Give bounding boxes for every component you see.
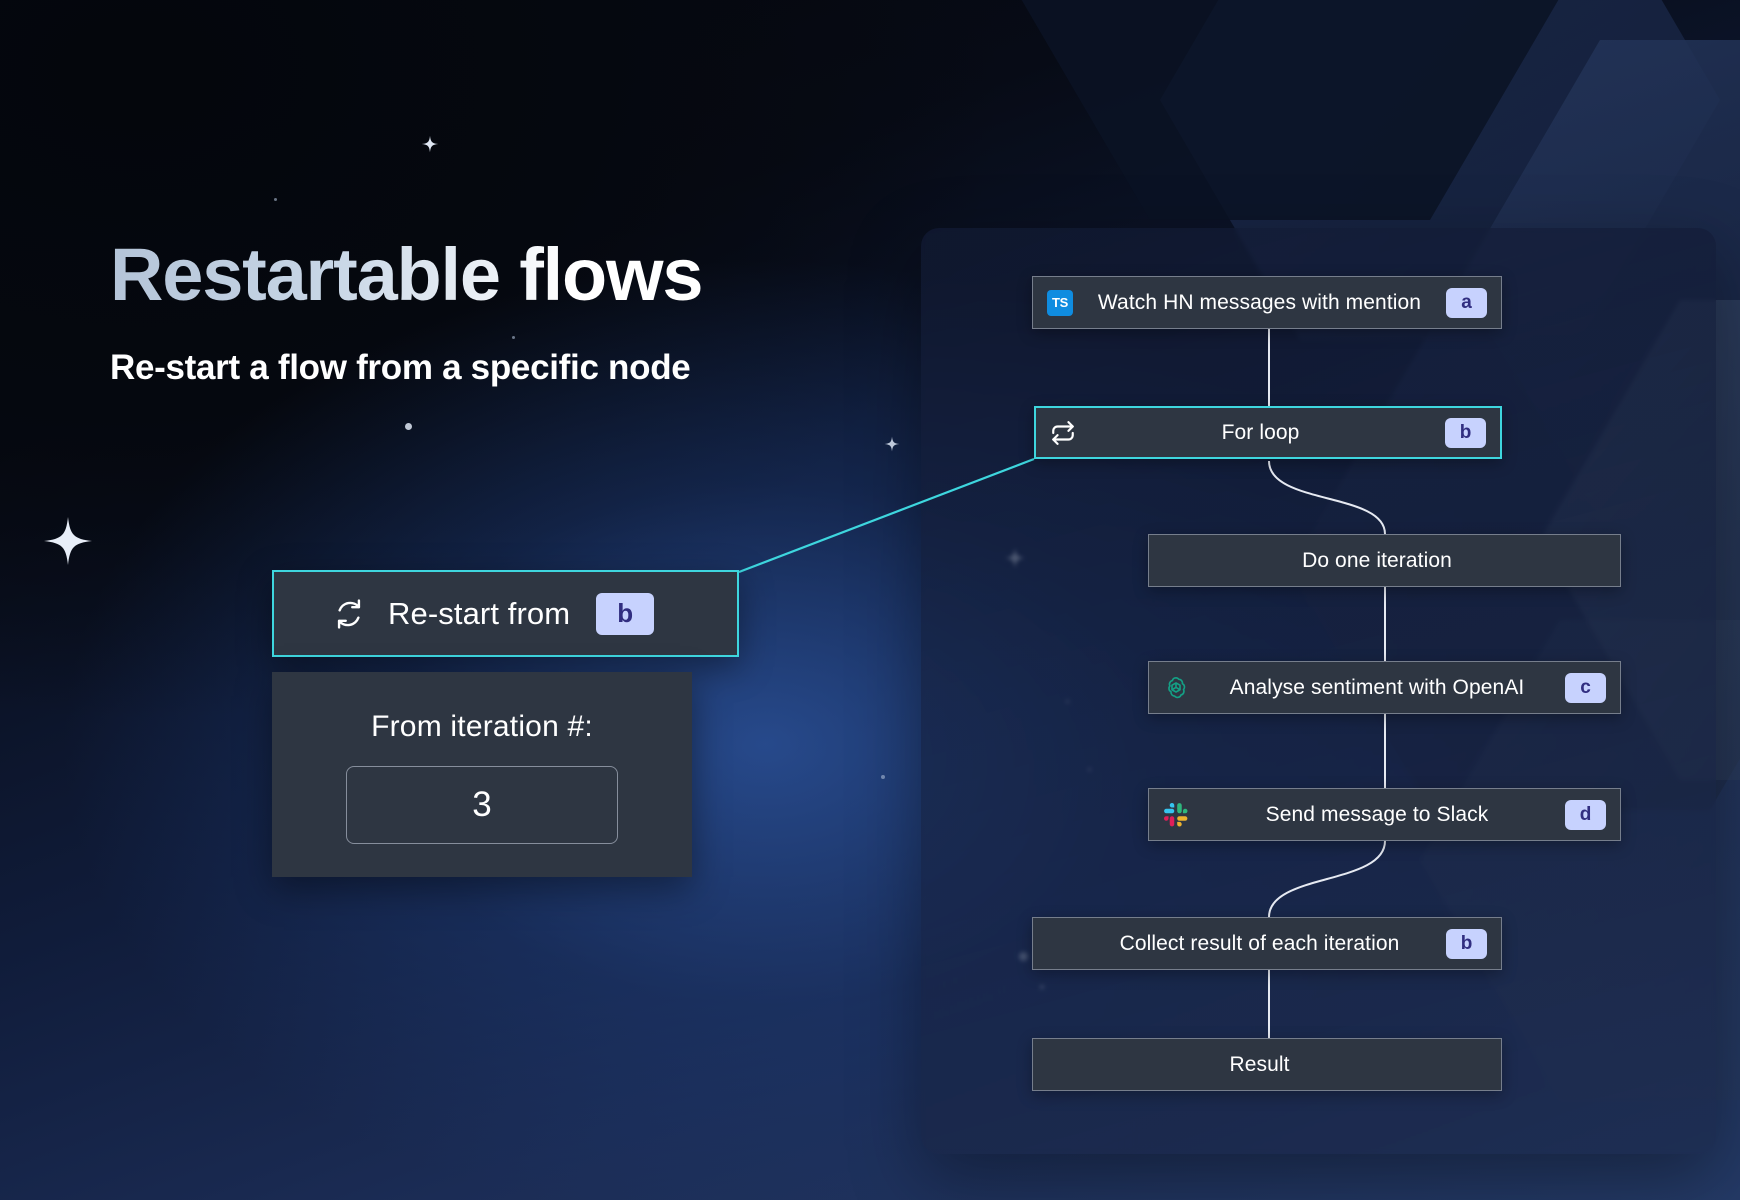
dust-dot-c — [512, 336, 515, 339]
from-iteration-label: From iteration #: — [371, 710, 593, 744]
page-subtitle: Re-start a flow from a specific node — [110, 348, 690, 388]
flow-node-label: Collect result of each iteration — [1073, 932, 1446, 956]
refresh-cycle-icon — [332, 597, 366, 631]
flow-node-do-one-iteration[interactable]: Do one iteration — [1148, 534, 1621, 587]
from-iteration-panel: From iteration #: — [272, 672, 692, 877]
flow-node-analyse-sentiment[interactable]: Analyse sentiment with OpenAI c — [1148, 661, 1621, 714]
dust-dot-d — [881, 775, 885, 779]
page-title: Restartable flows — [110, 238, 702, 312]
flow-node-label: Analyse sentiment with OpenAI — [1189, 676, 1565, 700]
flow-node-watch-hn[interactable]: TS Watch HN messages with mention a — [1032, 276, 1502, 329]
flow-node-collect-result[interactable]: Collect result of each iteration b — [1032, 917, 1502, 970]
flow-node-result[interactable]: Result — [1032, 1038, 1502, 1091]
dust-dot-b — [274, 198, 277, 201]
sparkle-icon-small-b — [884, 436, 900, 452]
flow-node-label: Do one iteration — [1189, 549, 1565, 573]
flow-node-label: Watch HN messages with mention — [1073, 291, 1446, 315]
sparkle-icon-large — [42, 515, 94, 567]
hero-canvas: Restartable flows Re-start a flow from a… — [0, 0, 1740, 1200]
restart-from-card[interactable]: Re-start from b — [272, 570, 739, 657]
restart-target-badge: b — [596, 593, 654, 635]
node-badge-d: d — [1565, 800, 1606, 830]
openai-icon — [1163, 675, 1189, 701]
node-badge-a: a — [1446, 288, 1487, 318]
sparkle-icon-small-a — [421, 135, 439, 153]
flow-node-label: For loop — [1076, 421, 1445, 445]
flow-node-label: Result — [1073, 1053, 1446, 1077]
typescript-icon: TS — [1047, 290, 1073, 316]
node-badge-c: c — [1565, 673, 1606, 703]
flow-node-send-slack[interactable]: Send message to Slack d — [1148, 788, 1621, 841]
from-iteration-input[interactable] — [346, 766, 618, 844]
loop-arrows-icon — [1050, 420, 1076, 446]
node-badge-b-collect: b — [1446, 929, 1487, 959]
flow-node-for-loop[interactable]: For loop b — [1034, 406, 1502, 459]
dust-dot-a — [405, 423, 412, 430]
flow-node-label: Send message to Slack — [1189, 803, 1565, 827]
restart-from-label: Re-start from — [388, 596, 570, 632]
node-badge-b: b — [1445, 418, 1486, 448]
slack-icon — [1163, 802, 1189, 828]
